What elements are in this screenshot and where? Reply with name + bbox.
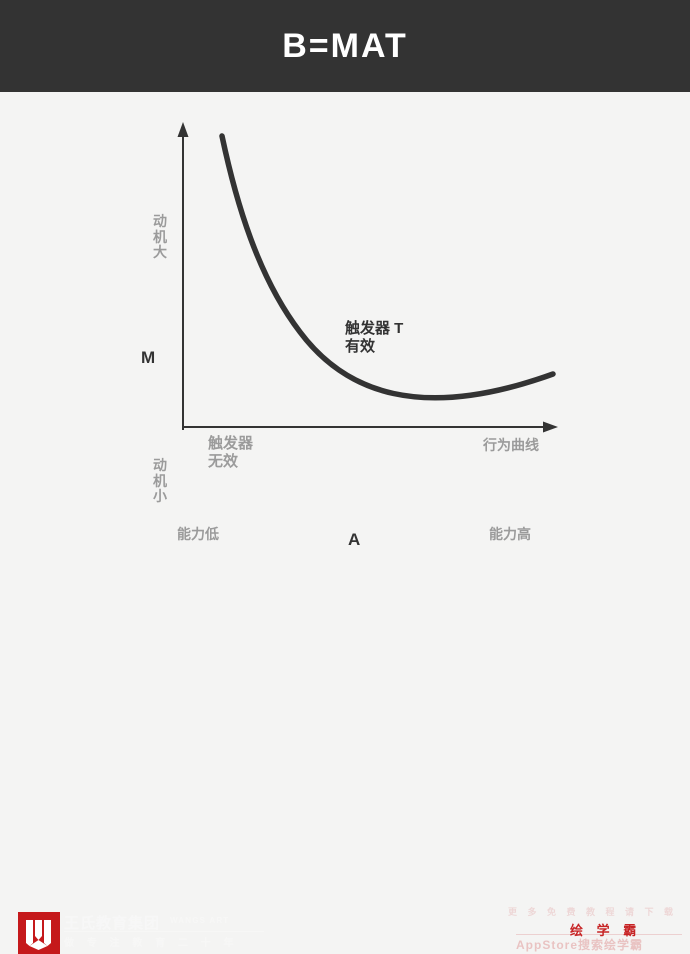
header-bar: B=MAT	[0, 0, 690, 92]
y-axis-arrow-icon	[178, 122, 189, 137]
watermark-brand-subtitle: 做 专 注 教 育 二 十 年	[64, 934, 238, 949]
x-axis-left-label: 能力低	[177, 526, 219, 543]
behavior-curve-path	[222, 136, 553, 398]
watermark-divider	[64, 931, 264, 932]
page-title: B=MAT	[0, 0, 690, 92]
x-axis-name: A	[348, 530, 361, 551]
watermark-app-store: AppStore搜索绘学霸	[516, 936, 643, 953]
slide-canvas: B=MAT 动机大 动机小 M A 能力低 能力高 触发器 T有效 触发器无效 …	[0, 0, 690, 512]
watermark-app-divider	[516, 934, 682, 935]
watermark-app-tagline: 更 多 免 费 教 程 请 下 载	[508, 905, 677, 918]
watermark-brand-en: WANGS ART	[170, 916, 229, 925]
brand-logo	[18, 912, 60, 954]
watermark-brand: 王氏教育集团	[64, 912, 160, 933]
x-axis-right-label: 能力高	[489, 526, 531, 543]
y-axis-top-label: 动机大	[151, 214, 169, 261]
x-axis-arrow-icon	[543, 422, 558, 433]
footer-watermark-bar: 王氏教育集团 WANGS ART 做 专 注 教 育 二 十 年 更 多 免 费…	[0, 450, 690, 512]
annotation-trigger-effective: 触发器 T有效	[345, 320, 403, 357]
y-axis-name: M	[141, 348, 156, 369]
chart-area: 动机大 动机小 M A 能力低 能力高 触发器 T有效 触发器无效 行为曲线	[0, 92, 690, 450]
behavior-curve-chart	[0, 92, 690, 450]
w-letter-icon	[18, 912, 60, 954]
